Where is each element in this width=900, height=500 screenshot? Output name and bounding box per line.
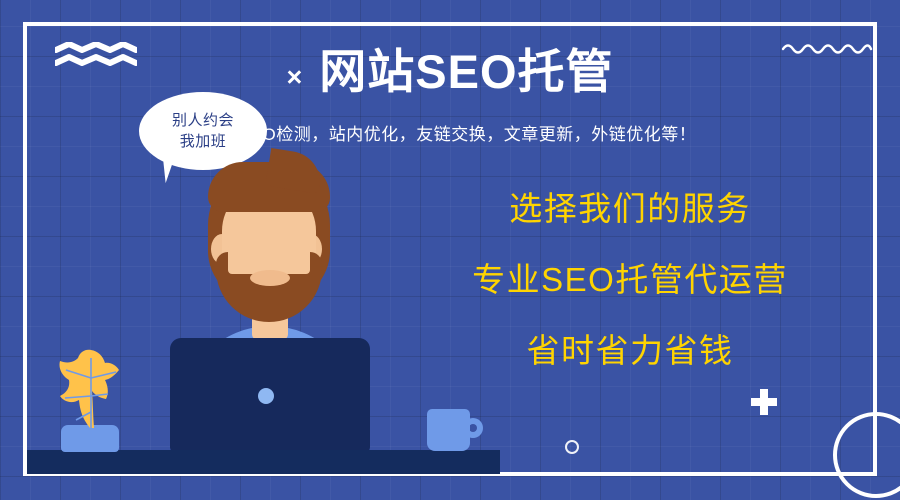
laptop-logo-icon (258, 388, 274, 404)
claims-list: 选择我们的服务 专业SEO托管代运营 省时省力省钱 (400, 192, 860, 367)
claim-line-1: 选择我们的服务 (509, 192, 751, 225)
plus-icon (751, 389, 777, 415)
speech-bubble-line-1: 别人约会 (172, 110, 234, 131)
speech-bubble-line-2: 我加班 (180, 131, 227, 152)
speech-bubble: 别人约会 我加班 (139, 92, 267, 170)
banner-title-row: × 网站SEO托管 (0, 46, 900, 99)
small-circle-icon (565, 440, 579, 454)
seo-promo-banner: × 网站SEO托管 含：SEO检测，站内优化，友链交换，文章更新，外链优化等！ … (0, 0, 900, 500)
potted-plant-icon (52, 348, 128, 430)
page-title: 网站SEO托管 (319, 46, 613, 99)
person-mouth (250, 270, 290, 286)
claim-line-2: 专业SEO托管代运营 (472, 263, 788, 296)
claim-line-3: 省时省力省钱 (527, 334, 734, 367)
coffee-mug-icon (427, 409, 470, 451)
banner-subtitle: 含：SEO检测，站内优化，友链交换，文章更新，外链优化等！ (0, 120, 900, 145)
desk-surface (27, 450, 500, 474)
title-bullet-icon: × (286, 64, 302, 91)
